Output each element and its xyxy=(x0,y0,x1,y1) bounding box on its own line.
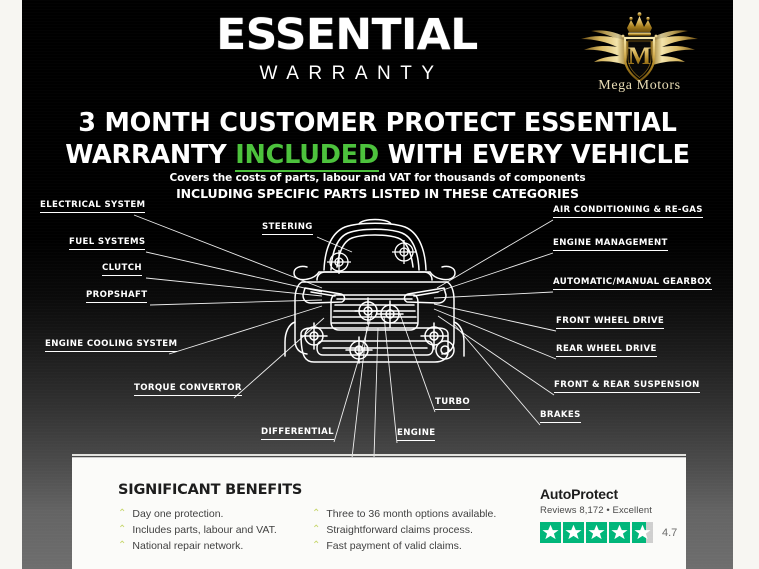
star-icon-1 xyxy=(540,522,561,543)
headline-line-1: 3 MONTH CUSTOMER PROTECT ESSENTIAL xyxy=(22,108,733,140)
star-icon-4 xyxy=(609,522,630,543)
poster-title-block: ESSENTIAL WARRANTY xyxy=(182,14,512,85)
benefit-item: ⌃ Three to 36 month options available. xyxy=(312,508,496,521)
star-icon xyxy=(540,522,561,543)
page-title: ESSENTIAL xyxy=(179,14,516,57)
warranty-poster: ESSENTIAL WARRANTY xyxy=(22,0,733,569)
car-illustration xyxy=(267,210,482,395)
benefits-column-left: ⌃ Day one protection. ⌃ Includes parts, … xyxy=(118,508,277,556)
label-engine-management: ENGINE MANAGEMENT xyxy=(553,238,668,251)
chevron-up-icon: ⌃ xyxy=(118,540,126,551)
star-icon-5-partial xyxy=(632,522,653,543)
poster-header: ESSENTIAL WARRANTY xyxy=(22,0,733,104)
logo-brand-text: Mega Motors xyxy=(567,78,712,94)
star-icon-2 xyxy=(563,522,584,543)
benefit-item: ⌃ Straightforward claims process. xyxy=(312,524,496,537)
benefit-text: Straightforward claims process. xyxy=(326,524,472,537)
benefit-item: ⌃ Day one protection. xyxy=(118,508,277,521)
label-engine: ENGINE xyxy=(397,428,435,441)
logo-monogram: M xyxy=(628,43,652,70)
benefit-text: Day one protection. xyxy=(132,508,223,521)
label-steering: STEERING xyxy=(262,222,313,235)
label-front-wheel-drive: FRONT WHEEL DRIVE xyxy=(556,316,664,329)
label-propshaft: PROPSHAFT xyxy=(86,290,147,303)
chevron-up-icon: ⌃ xyxy=(118,508,126,519)
benefit-text: Three to 36 month options available. xyxy=(326,508,496,521)
chevron-up-icon: ⌃ xyxy=(312,540,320,551)
benefits-heading: SIGNIFICANT BENEFITS xyxy=(118,482,302,498)
label-fuel-systems: FUEL SYSTEMS xyxy=(69,237,145,250)
mega-motors-logo: M Mega Motors xyxy=(567,8,712,102)
page-subtitle: WARRANTY xyxy=(182,63,512,85)
poster-frame: ESSENTIAL WARRANTY xyxy=(0,0,759,569)
trustpilot-stars: 4.7 xyxy=(540,522,690,543)
subline-costs: Covers the costs of parts, labour and VA… xyxy=(22,172,733,184)
autoprotect-name: AutoProtect xyxy=(540,486,690,502)
headline-highlight-included: INCLUDED xyxy=(235,140,379,172)
label-automatic-manual-gearbox: AUTOMATIC/MANUAL GEARBOX xyxy=(553,277,712,290)
label-brakes: BRAKES xyxy=(540,410,581,423)
star-icon-3 xyxy=(586,522,607,543)
headline-line-2-pre: WARRANTY xyxy=(65,140,235,170)
benefit-item: ⌃ National repair network. xyxy=(118,540,277,553)
label-differential: DIFFERENTIAL xyxy=(261,427,334,440)
benefit-text: Includes parts, labour and VAT. xyxy=(132,524,276,537)
significant-benefits-panel: SIGNIFICANT BENEFITS ⌃ Day one protectio… xyxy=(72,458,686,569)
benefit-text: Fast payment of valid claims. xyxy=(326,540,461,553)
label-clutch: CLUTCH xyxy=(102,263,142,276)
headline: 3 MONTH CUSTOMER PROTECT ESSENTIAL WARRA… xyxy=(22,108,733,171)
label-electrical-system: ELECTRICAL SYSTEM xyxy=(40,200,145,213)
headline-line-2-post: WITH EVERY VEHICLE xyxy=(379,140,690,170)
autoprotect-reviews-line: Reviews 8,172 • Excellent xyxy=(540,505,690,516)
label-turbo: TURBO xyxy=(435,397,470,410)
headline-line-2: WARRANTY INCLUDED WITH EVERY VEHICLE xyxy=(22,140,733,172)
benefit-item: ⌃ Includes parts, labour and VAT. xyxy=(118,524,277,537)
rating-score: 4.7 xyxy=(662,527,677,539)
label-rear-wheel-drive: REAR WHEEL DRIVE xyxy=(556,344,657,357)
autoprotect-rating: AutoProtect Reviews 8,172 • Excellent xyxy=(540,486,690,543)
label-engine-cooling-system: ENGINE COOLING SYSTEM xyxy=(45,339,177,352)
star-icon xyxy=(632,522,653,543)
star-icon xyxy=(586,522,607,543)
coverage-diagram: ELECTRICAL SYSTEM FUEL SYSTEMS CLUTCH PR… xyxy=(22,196,733,458)
chevron-up-icon: ⌃ xyxy=(118,524,126,535)
label-air-conditioning-regas: AIR CONDITIONING & RE-GAS xyxy=(553,205,703,218)
label-front-rear-suspension: FRONT & REAR SUSPENSION xyxy=(554,380,700,393)
benefit-text: National repair network. xyxy=(132,540,243,553)
star-icon xyxy=(563,522,584,543)
benefit-item: ⌃ Fast payment of valid claims. xyxy=(312,540,496,553)
chevron-up-icon: ⌃ xyxy=(312,524,320,535)
chevron-up-icon: ⌃ xyxy=(312,508,320,519)
label-torque-convertor: TORQUE CONVERTOR xyxy=(134,383,242,396)
star-icon xyxy=(609,522,630,543)
benefits-column-right: ⌃ Three to 36 month options available. ⌃… xyxy=(312,508,496,556)
